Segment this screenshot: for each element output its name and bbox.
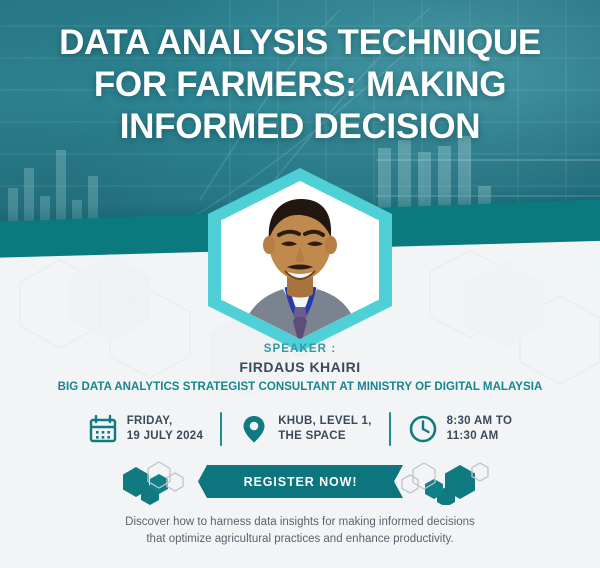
detail-divider-2: [389, 412, 391, 446]
speaker-label: SPEAKER :: [0, 343, 600, 355]
detail-date-line2: 19 JULY 2024: [127, 429, 204, 444]
page-title: DATA ANALYSIS TECHNIQUE FOR FARMERS: MAK…: [0, 22, 600, 148]
detail-location-line1: KHUB, LEVEL 1,: [278, 414, 371, 429]
detail-time-line1: 8:30 AM TO: [447, 414, 513, 429]
speaker-photo-hexagon: [208, 168, 392, 352]
footer-line-2: that optimize agricultural practices and…: [0, 531, 600, 548]
detail-date: FRIDAY, 19 JULY 2024: [88, 414, 204, 444]
title-line-3: INFORMED DECISION: [0, 106, 600, 148]
clock-icon: [408, 414, 438, 444]
hexagon-cluster-right: [398, 461, 498, 505]
detail-date-line1: FRIDAY,: [127, 414, 204, 429]
event-details-row: FRIDAY, 19 JULY 2024 KHUB, LEVEL 1, THE …: [0, 404, 600, 454]
register-row: REGISTER NOW!: [0, 461, 600, 505]
footer-description: Discover how to harness data insights fo…: [0, 514, 600, 548]
footer-line-1: Discover how to harness data insights fo…: [0, 514, 600, 531]
location-pin-icon: [239, 414, 269, 444]
detail-date-text: FRIDAY, 19 JULY 2024: [127, 414, 204, 444]
event-poster: DATA ANALYSIS TECHNIQUE FOR FARMERS: MAK…: [0, 0, 600, 568]
detail-time-text: 8:30 AM TO 11:30 AM: [447, 414, 513, 444]
title-line-1: DATA ANALYSIS TECHNIQUE: [0, 22, 600, 64]
detail-divider-1: [220, 412, 222, 446]
register-button[interactable]: REGISTER NOW!: [198, 465, 403, 498]
detail-location-text: KHUB, LEVEL 1, THE SPACE: [278, 414, 371, 444]
speaker-role: BIG DATA ANALYTICS STRATEGIST CONSULTANT…: [0, 381, 600, 393]
detail-time: 8:30 AM TO 11:30 AM: [408, 414, 513, 444]
speaker-name: FIRDAUS KHAIRI: [0, 359, 600, 375]
calendar-icon: [88, 414, 118, 444]
detail-location: KHUB, LEVEL 1, THE SPACE: [239, 414, 371, 444]
detail-location-line2: THE SPACE: [278, 429, 371, 444]
title-line-2: FOR FARMERS: MAKING: [0, 64, 600, 106]
detail-time-line2: 11:30 AM: [447, 429, 513, 444]
